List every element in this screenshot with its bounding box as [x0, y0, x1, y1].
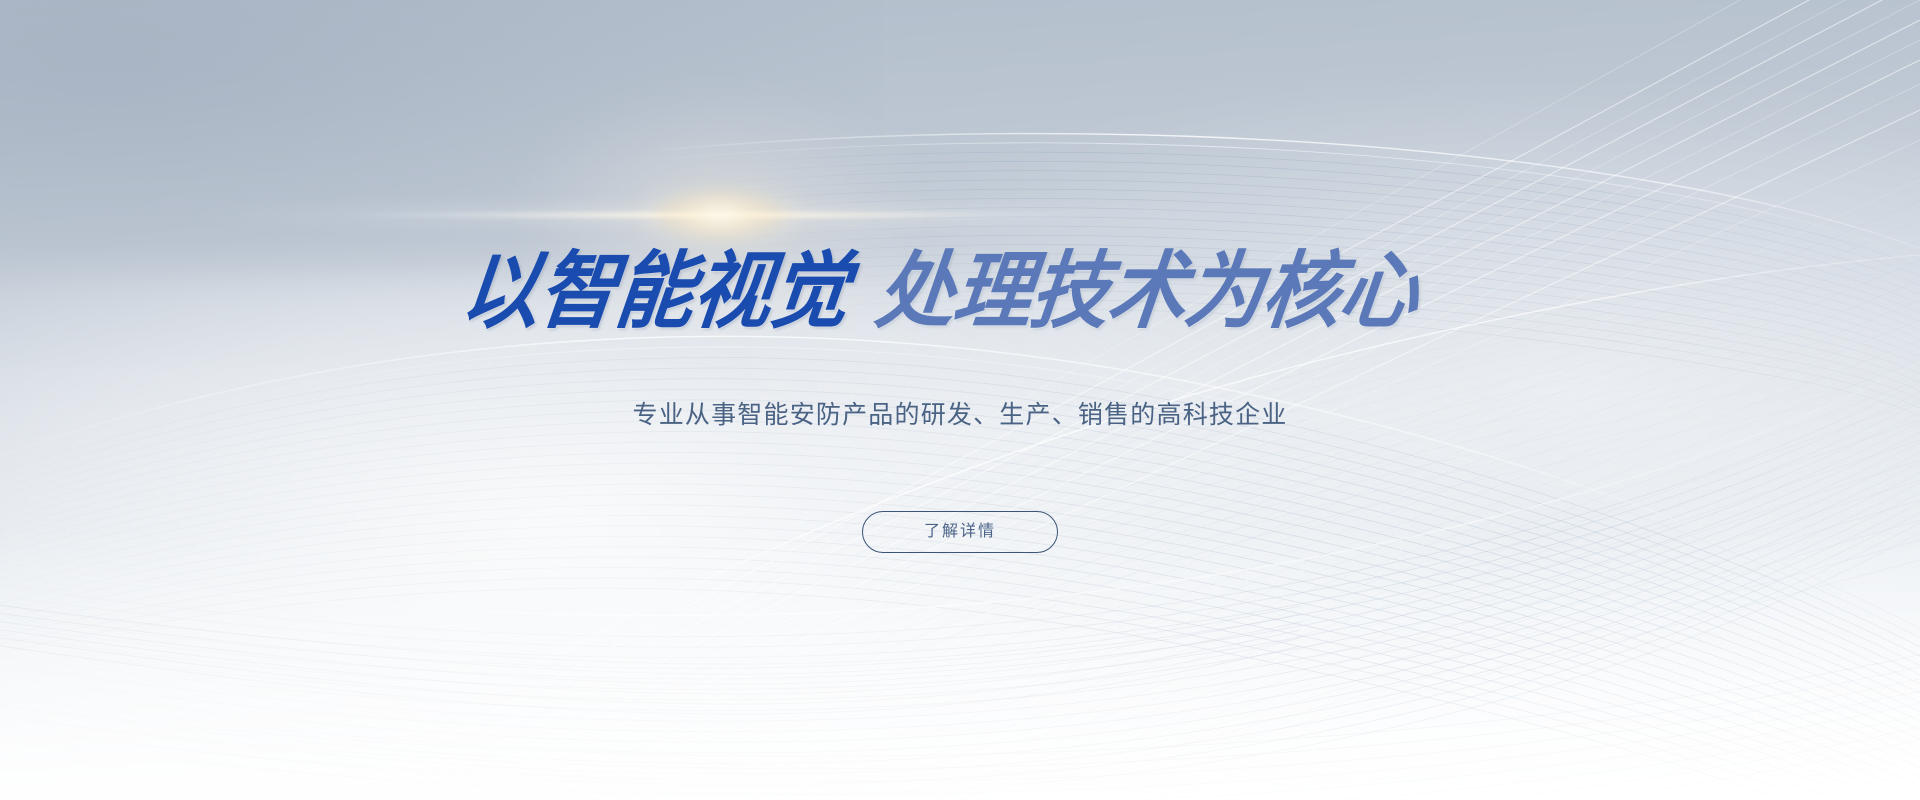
- hero-subtitle: 专业从事智能安防产品的研发、生产、销售的高科技企业: [632, 399, 1287, 433]
- headline-secondary-segment: 处理技术为核心: [872, 249, 1422, 333]
- hero-content: 以智能视觉处理技术为核心 专业从事智能安防产品的研发、生产、销售的高科技企业 了…: [0, 0, 1920, 800]
- learn-more-button[interactable]: 了解详情: [862, 511, 1058, 553]
- hero-headline: 以智能视觉处理技术为核心: [462, 249, 1458, 333]
- hero-banner: 以智能视觉处理技术为核心 专业从事智能安防产品的研发、生产、销售的高科技企业 了…: [0, 0, 1920, 800]
- headline-primary-segment: 以智能视觉: [457, 249, 853, 333]
